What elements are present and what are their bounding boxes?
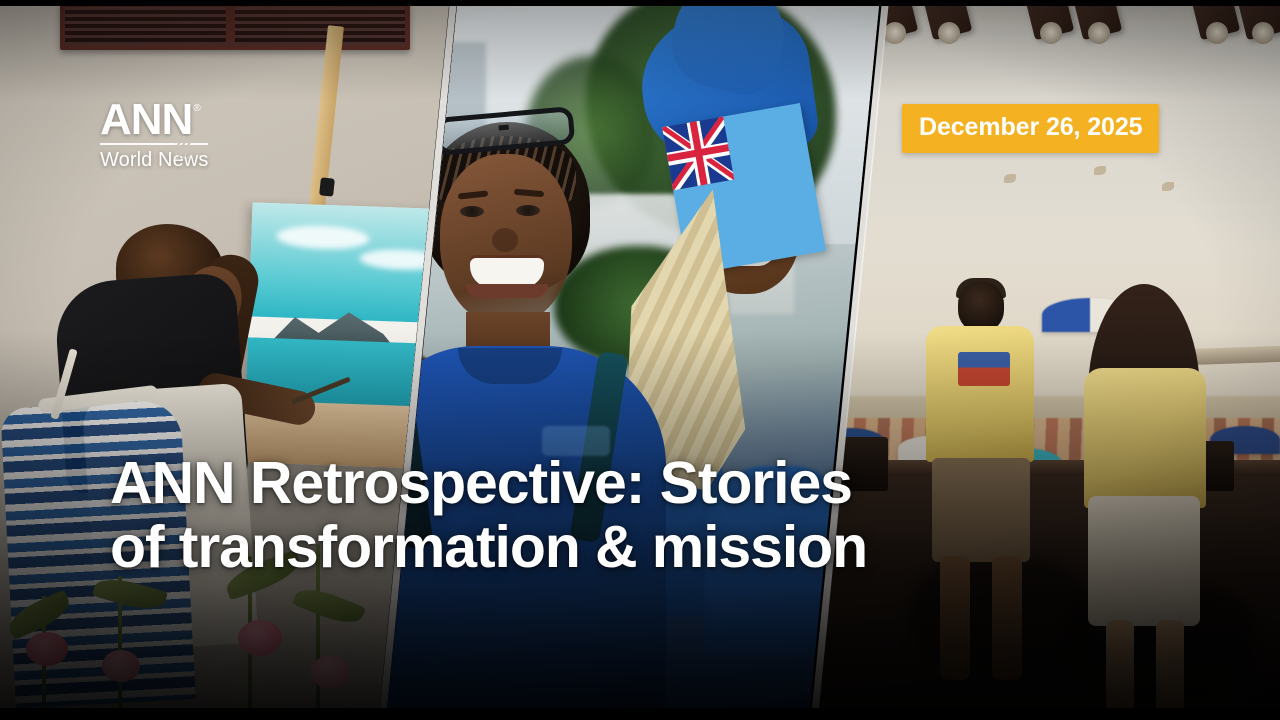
collage-panel-middle	[374, 0, 894, 720]
headline-line-1: ANN Retrospective: Stories	[110, 450, 852, 516]
kite	[1094, 166, 1106, 175]
stage-woman-leg	[1156, 620, 1184, 716]
kite	[1004, 174, 1016, 183]
stage-man-head	[958, 282, 1004, 332]
subject-eye	[516, 205, 540, 216]
stage-man-yellow-shirt	[926, 326, 1034, 462]
letterbox-top	[0, 0, 1280, 6]
video-thumbnail: ANN ® World News December 26, 2025 ANN R…	[0, 0, 1280, 720]
date-badge: December 26, 2025	[902, 104, 1159, 153]
ann-logo: ANN ® World News	[100, 100, 208, 172]
logo-letters: ANN	[100, 100, 192, 140]
letterbox-bottom	[0, 708, 1280, 720]
flower-bloom	[310, 656, 350, 688]
stage-light	[1236, 0, 1280, 54]
subject-lower-lip	[466, 284, 548, 298]
flower-bloom	[26, 632, 68, 666]
headline: ANN Retrospective: Stories of transforma…	[110, 452, 1110, 579]
stage-light	[1190, 0, 1242, 54]
shuttered-window	[60, 2, 410, 50]
subject-nose	[492, 228, 518, 252]
registered-trademark-icon: ®	[193, 103, 200, 114]
flower-bloom	[102, 650, 140, 682]
photo-crowd-fiji	[374, 0, 894, 720]
stage-woman-leg	[1106, 620, 1134, 716]
window-mullion	[226, 0, 235, 43]
shirt-graphic	[958, 352, 1010, 386]
logo-wordmark: ANN ®	[100, 100, 208, 140]
logo-tagline: World News	[100, 149, 208, 172]
stage-light	[1024, 0, 1076, 54]
stage-light	[922, 0, 974, 54]
subject-eye	[460, 206, 484, 217]
headline-line-2: of transformation & mission	[110, 516, 1110, 580]
kite	[1162, 182, 1174, 191]
stage-light	[1072, 0, 1124, 54]
flag-union-jack	[662, 117, 734, 191]
easel-clip	[319, 177, 335, 196]
flower-bloom	[238, 620, 282, 656]
